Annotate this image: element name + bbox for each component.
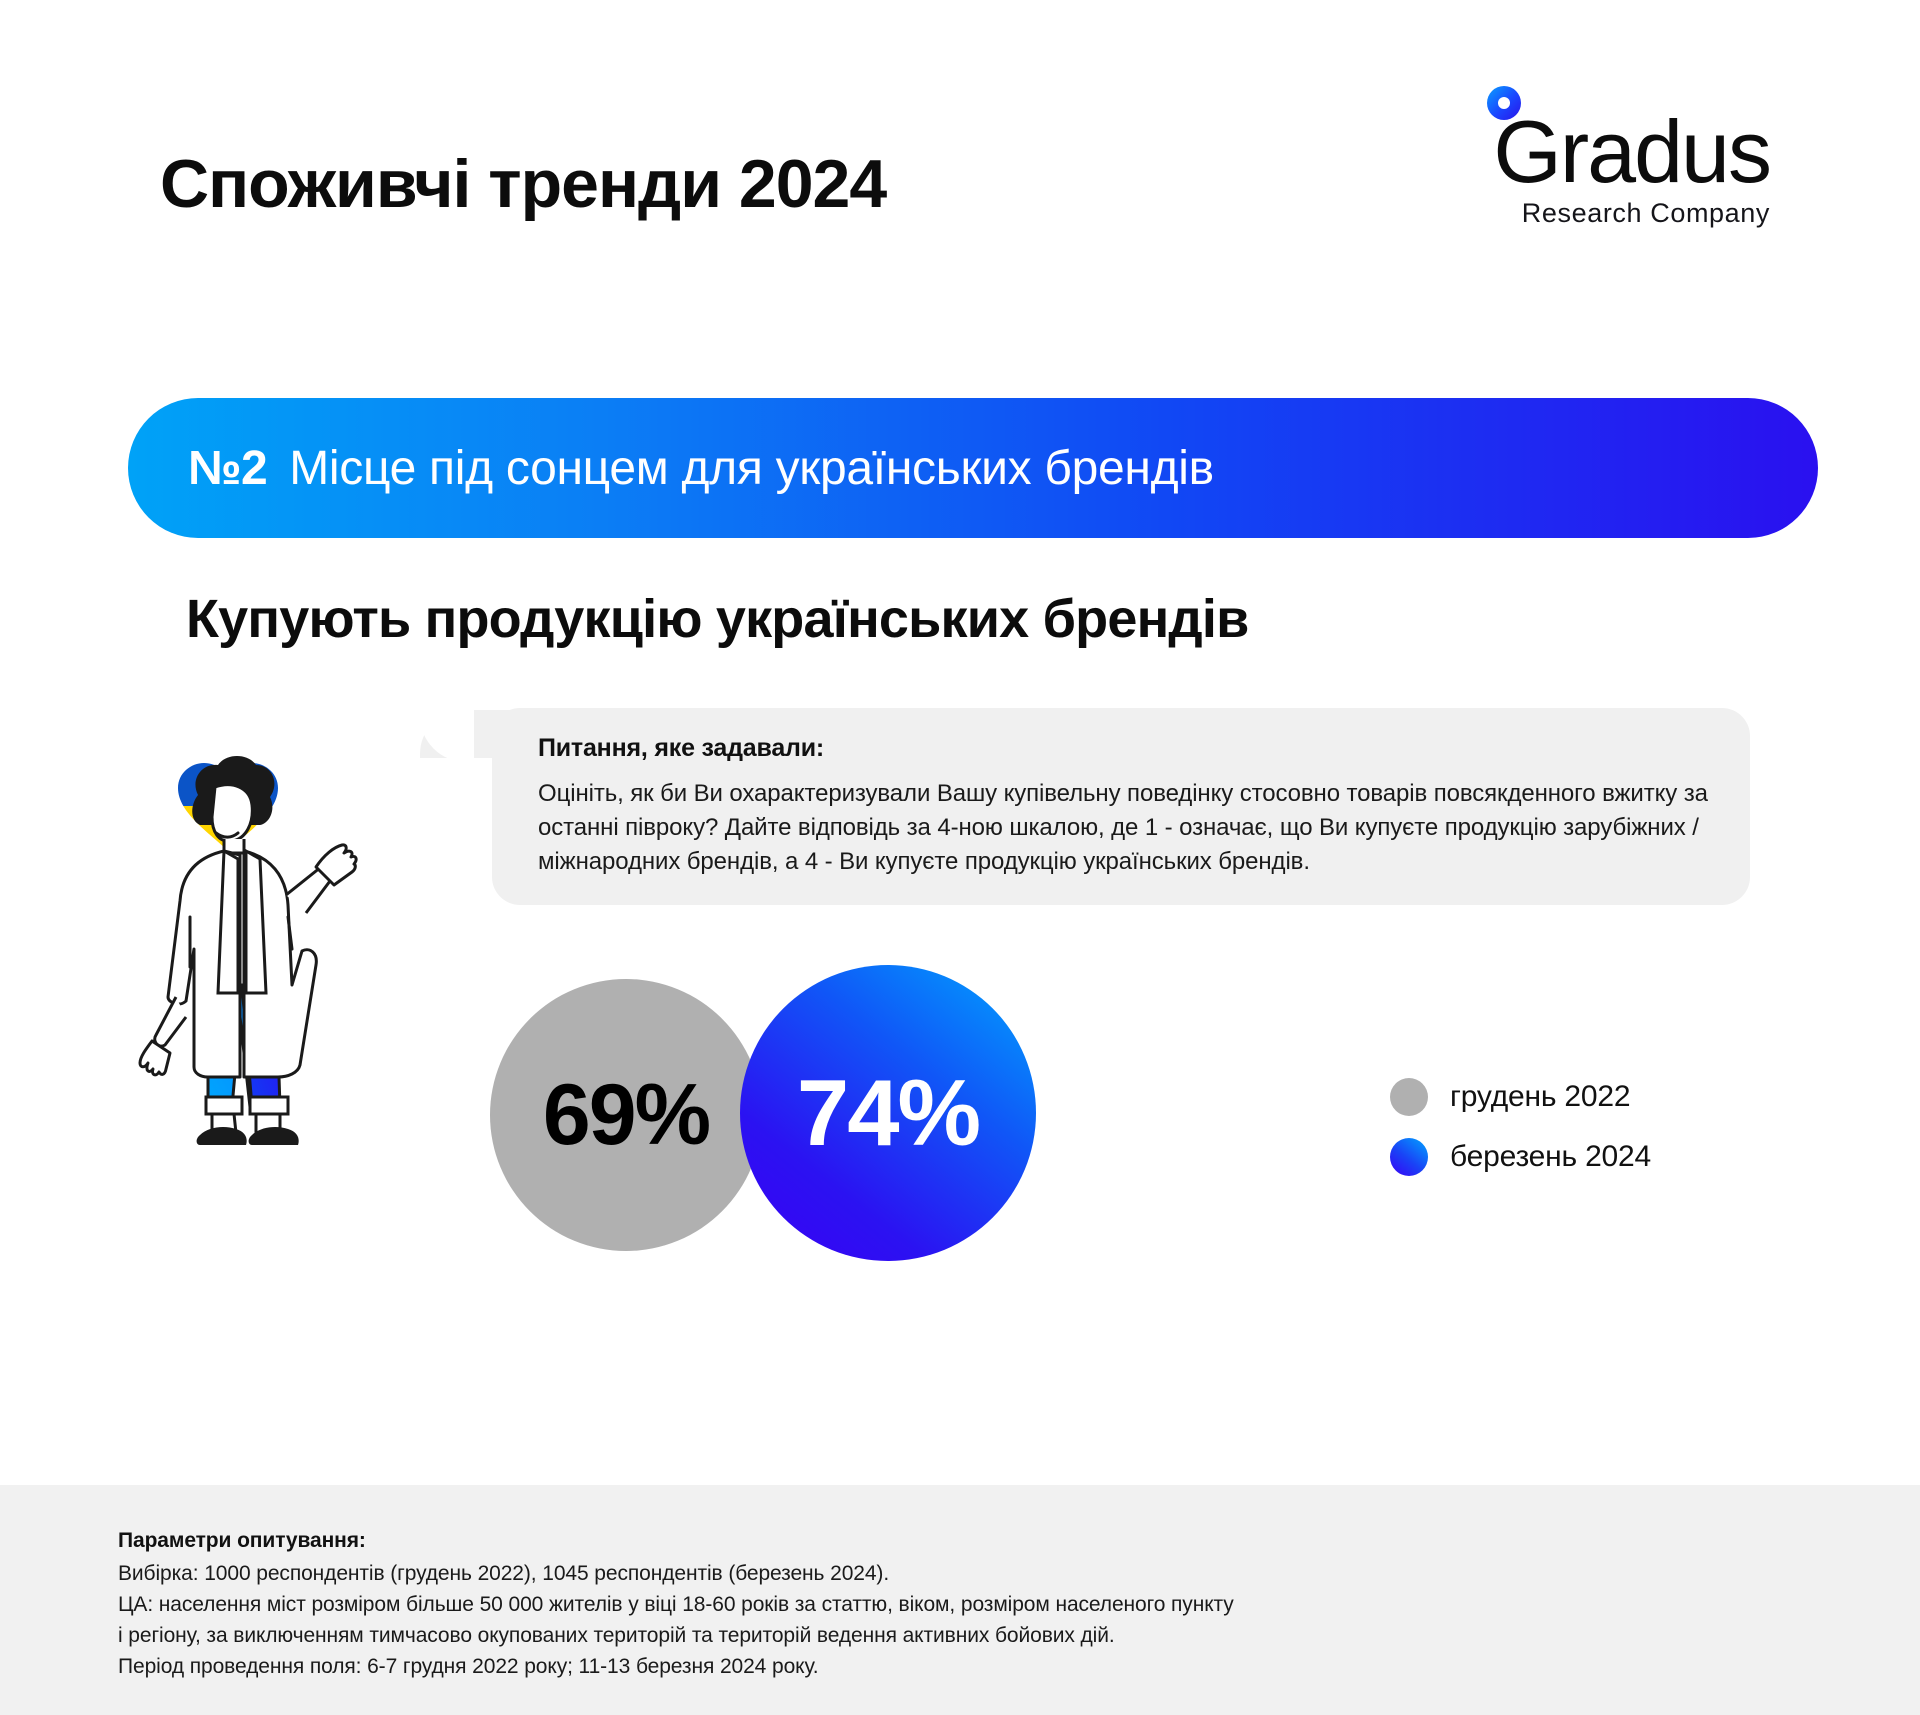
- footer-line-period: Період проведення поля: 6-7 грудня 2022 …: [118, 1651, 1818, 1682]
- stat-circle-dec-2022: 69%: [490, 979, 762, 1251]
- infographic-page: Споживчі тренди 2024 Gradus Research Com…: [0, 0, 1920, 1715]
- stat-circles: 69% 74%: [490, 965, 1150, 1265]
- trend-title: Місце під сонцем для українських брендів: [289, 441, 1214, 496]
- brand-name: Gradus: [1493, 102, 1770, 201]
- footer-line-sample: Вибірка: 1000 респондентів (грудень 2022…: [118, 1558, 1818, 1589]
- page-header: Споживчі тренди 2024 Gradus Research Com…: [0, 0, 1920, 320]
- brand-wordmark-wrap: Gradus: [1493, 110, 1770, 194]
- page-title: Споживчі тренди 2024: [160, 150, 886, 218]
- legend-swatch-gray-icon: [1390, 1078, 1428, 1116]
- footer-line-audience-1: ЦА: населення міст розміром більше 50 00…: [118, 1589, 1818, 1620]
- trend-number: №2: [188, 441, 267, 496]
- chart-legend: грудень 2022 березень 2024: [1390, 1078, 1810, 1198]
- stat-circle-mar-2024: 74%: [740, 965, 1036, 1261]
- legend-item-dec-2022: грудень 2022: [1390, 1078, 1810, 1116]
- footer-line-audience-2: і регіону, за виключенням тимчасово окуп…: [118, 1620, 1818, 1651]
- footer-title: Параметри опитування:: [118, 1529, 1818, 1553]
- question-card-title: Питання, яке задавали:: [538, 734, 1710, 763]
- legend-item-mar-2024: березень 2024: [1390, 1138, 1810, 1176]
- footer-inner: Параметри опитування: Вибірка: 1000 респ…: [118, 1529, 1818, 1682]
- trend-banner: №2 Місце під сонцем для українських брен…: [128, 398, 1818, 538]
- legend-label-dec-2022: грудень 2022: [1450, 1080, 1630, 1114]
- person-holding-ukrainian-heart-illustration: [120, 735, 440, 1155]
- legend-swatch-blue-icon: [1390, 1138, 1428, 1176]
- survey-parameters-footer: Параметри опитування: Вибірка: 1000 респ…: [0, 1485, 1920, 1715]
- legend-label-mar-2024: березень 2024: [1450, 1140, 1651, 1174]
- brand-tagline: Research Company: [1350, 198, 1770, 229]
- question-card-body: Оцініть, як би Ви охарактеризували Вашу …: [538, 777, 1710, 879]
- section-heading: Купують продукцію українських брендів: [186, 588, 1248, 650]
- stat-value-dec-2022: 69%: [543, 1072, 709, 1158]
- brand-logo: Gradus Research Company: [1350, 110, 1770, 229]
- question-card: Питання, яке задавали: Оцініть, як би Ви…: [492, 708, 1750, 905]
- stat-value-mar-2024: 74%: [797, 1066, 979, 1160]
